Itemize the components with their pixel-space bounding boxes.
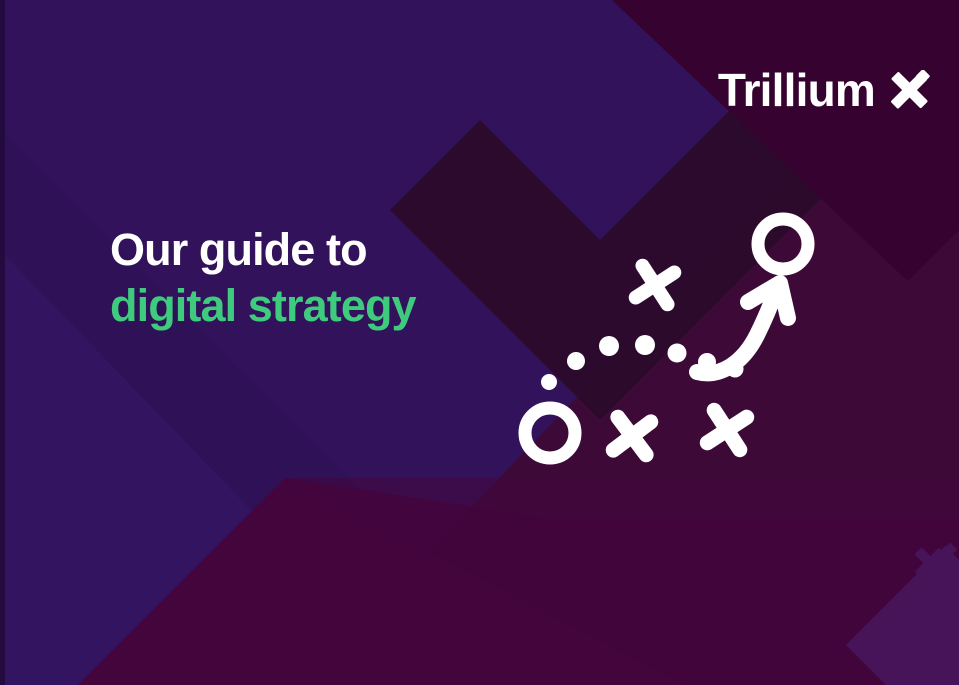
route-dotted-path-icon [541, 335, 744, 390]
cover-slide: Trillium Our guide to digital strategy [0, 0, 959, 685]
cross-bottom-left-icon [601, 405, 662, 466]
cross-top-icon [624, 254, 686, 316]
cross-bottom-right-icon [695, 398, 760, 463]
player-circle-lower-left-icon [525, 408, 575, 458]
trillium-x-mark-icon [889, 70, 931, 112]
logo-wordmark: Trillium [718, 67, 875, 113]
player-circle-upper-right-icon [758, 219, 808, 269]
playbook-strategy-diagram [505, 195, 855, 495]
background-left-edge-strip [0, 0, 5, 685]
brand-logo[interactable]: Trillium [718, 62, 931, 118]
